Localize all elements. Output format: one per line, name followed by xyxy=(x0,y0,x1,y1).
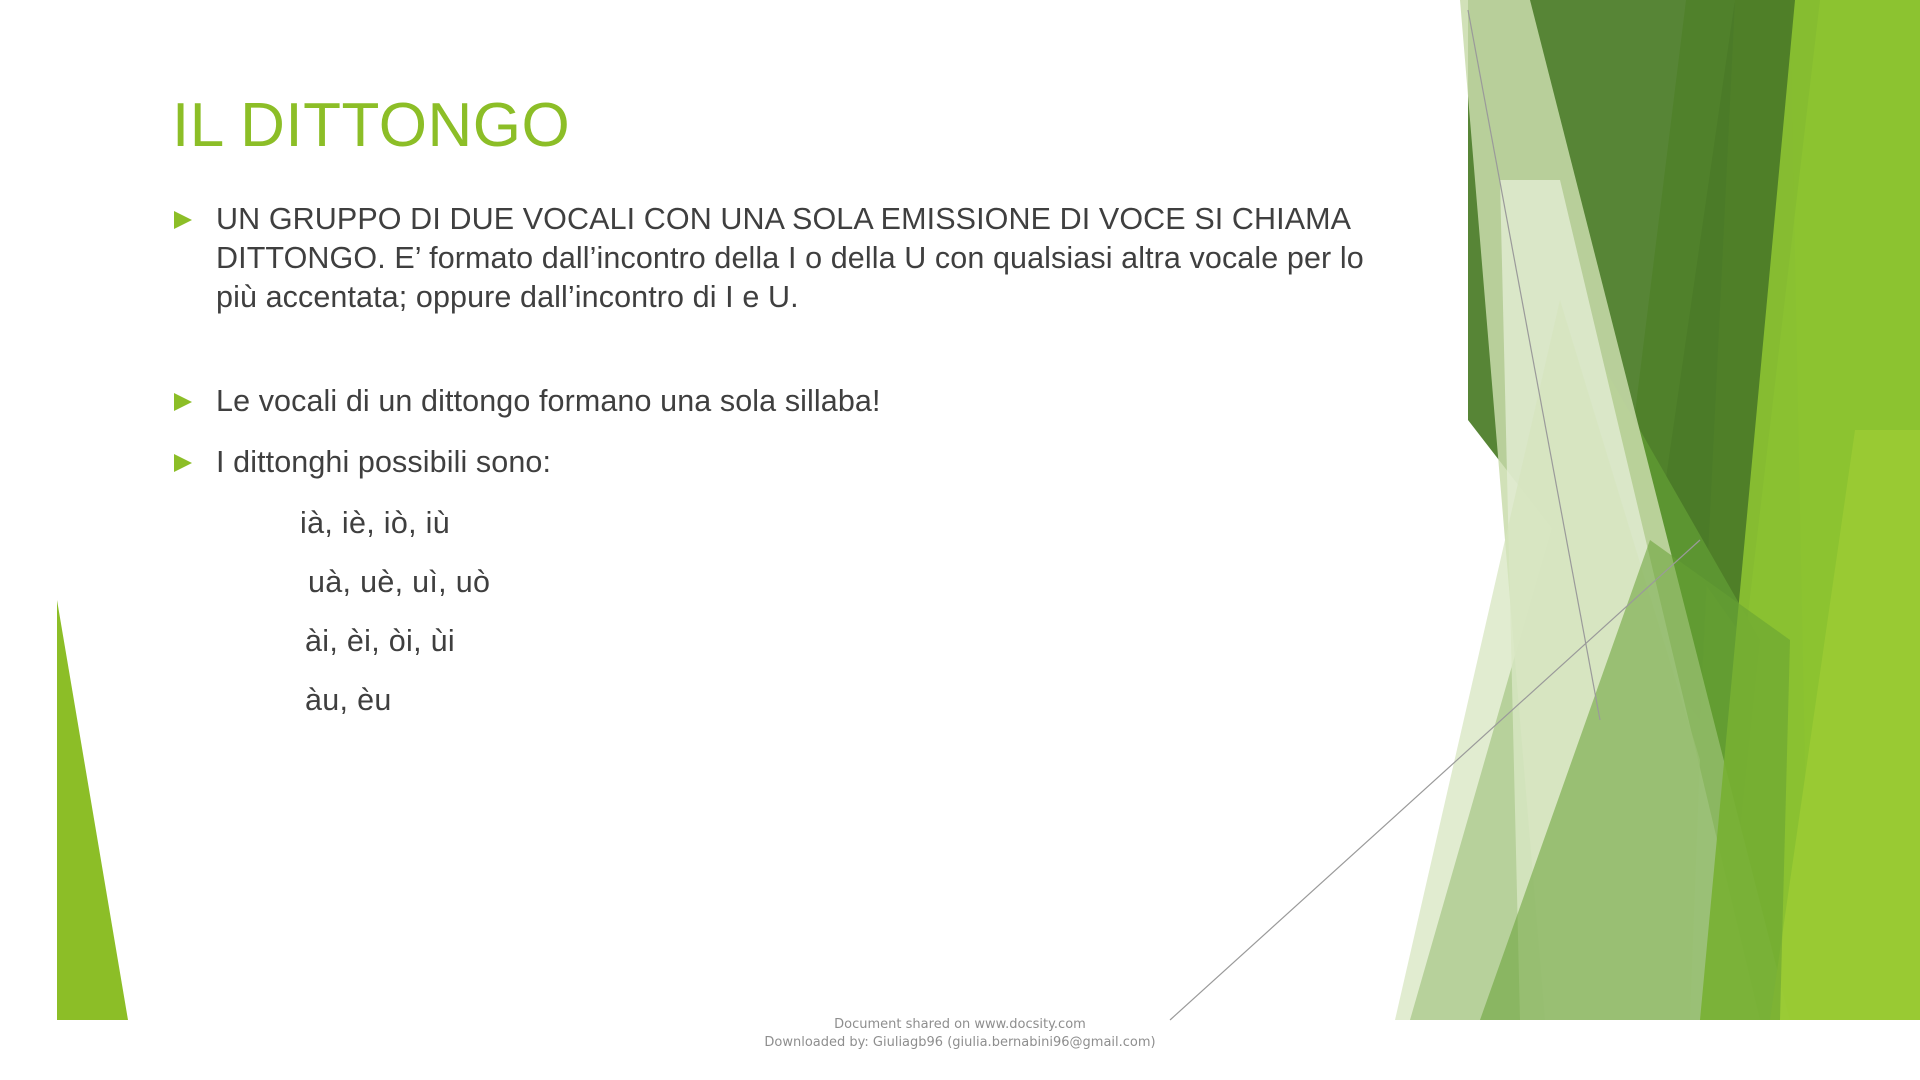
page-title: IL DITTONGO xyxy=(172,95,570,157)
docsity-watermark: Document shared on www.docsity.com Downl… xyxy=(0,1016,1920,1052)
vowel-group-line-3: ài, èi, òi, ùi xyxy=(305,622,455,661)
vowel-group-line-2: uà, uè, uì, uò xyxy=(308,563,490,602)
bullet-item-1-text: UN GRUPPO DI DUE VOCALI CON UNA SOLA EMI… xyxy=(216,200,1402,317)
triangle-right-bullet-icon xyxy=(172,209,198,231)
vowel-group-line-4: àu, èu xyxy=(305,681,392,720)
presentation-slide: IL DITTONGO UN GRUPPO DI DUE VOCALI CON … xyxy=(0,0,1920,1080)
bullet-item-2: Le vocali di un dittongo formano una sol… xyxy=(172,382,1402,421)
vowel-group-line-1: ià, iè, iò, iù xyxy=(300,504,450,543)
bullet-item-1: UN GRUPPO DI DUE VOCALI CON UNA SOLA EMI… xyxy=(172,200,1402,317)
bullet-item-2-text: Le vocali di un dittongo formano una sol… xyxy=(216,382,881,421)
bullet-item-3: I dittonghi possibili sono: xyxy=(172,443,1402,482)
triangle-right-bullet-icon xyxy=(172,452,198,474)
bullet-item-3-text: I dittonghi possibili sono: xyxy=(216,443,551,482)
slide-content: IL DITTONGO UN GRUPPO DI DUE VOCALI CON … xyxy=(0,0,1920,1080)
triangle-right-bullet-icon xyxy=(172,391,198,413)
watermark-line-2: Downloaded by: Giuliagb96 (giulia.bernab… xyxy=(0,1034,1920,1052)
watermark-line-1: Document shared on www.docsity.com xyxy=(0,1016,1920,1034)
